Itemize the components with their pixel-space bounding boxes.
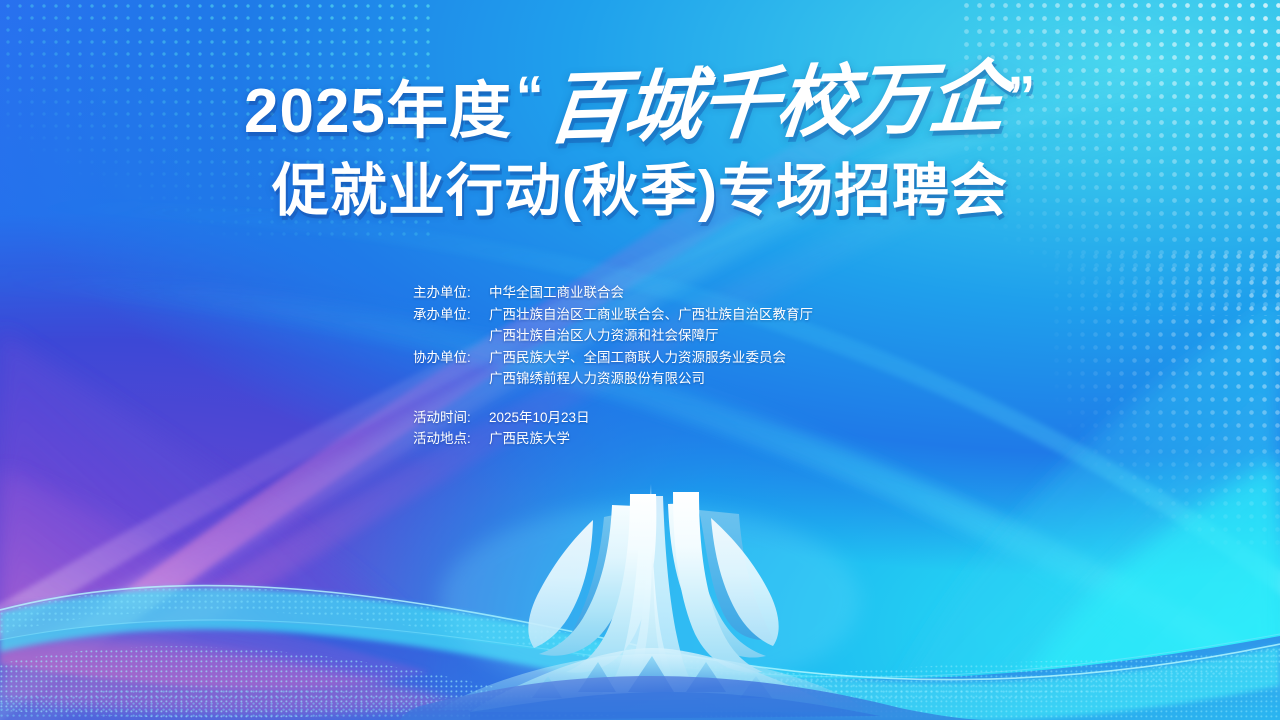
info-spacer bbox=[413, 390, 813, 407]
supporter-value-2: 广西锦绣前程人力资源股份有限公司 bbox=[413, 368, 813, 390]
event-place-value: 广西民族大学 bbox=[489, 428, 813, 450]
title-slogan: 百城千校万企 bbox=[544, 59, 1009, 150]
organizer-label: 主办单位: bbox=[413, 282, 489, 304]
event-info-block: 主办单位: 中华全国工商业联合会 承办单位: 广西壮族自治区工商业联合会、广西壮… bbox=[413, 282, 813, 450]
quote-open: “ bbox=[515, 68, 545, 125]
info-row-supporter: 协办单位: 广西民族大学、全国工商联人力资源服务业委员会 bbox=[413, 347, 813, 369]
title-year: 2025年度 bbox=[244, 81, 512, 143]
halftone-dots-right bbox=[1050, 250, 1280, 550]
info-row-co-organizer: 承办单位: 广西壮族自治区工商业联合会、广西壮族自治区教育厅 bbox=[413, 304, 813, 326]
event-time-value: 2025年10月23日 bbox=[489, 407, 813, 429]
organizer-value: 中华全国工商业联合会 bbox=[489, 282, 813, 304]
title-line-primary: 2025年度 “ 百城千校万企 ” bbox=[0, 62, 1280, 154]
co-organizer-value-2: 广西壮族自治区人力资源和社会保障厅 bbox=[413, 325, 813, 347]
quote-close: ” bbox=[1007, 68, 1037, 125]
info-row-organizer: 主办单位: 中华全国工商业联合会 bbox=[413, 282, 813, 304]
event-time-label: 活动时间: bbox=[413, 407, 489, 429]
supporter-value: 广西民族大学、全国工商联人力资源服务业委员会 bbox=[489, 347, 813, 369]
headline-block: 2025年度 “ 百城千校万企 ” 促就业行动(秋季)专场招聘会 bbox=[0, 62, 1280, 223]
co-organizer-value: 广西壮族自治区工商业联合会、广西壮族自治区教育厅 bbox=[489, 304, 813, 326]
co-organizer-label: 承办单位: bbox=[413, 304, 489, 326]
event-place-label: 活动地点: bbox=[413, 428, 489, 450]
title-subtitle: 促就业行动(秋季)专场招聘会 bbox=[0, 160, 1280, 223]
supporter-label: 协办单位: bbox=[413, 347, 489, 369]
info-row-time: 活动时间: 2025年10月23日 bbox=[413, 407, 813, 429]
event-poster: 2025年度 “ 百城千校万企 ” 促就业行动(秋季)专场招聘会 主办单位: 中… bbox=[0, 0, 1280, 720]
info-row-place: 活动地点: 广西民族大学 bbox=[413, 428, 813, 450]
